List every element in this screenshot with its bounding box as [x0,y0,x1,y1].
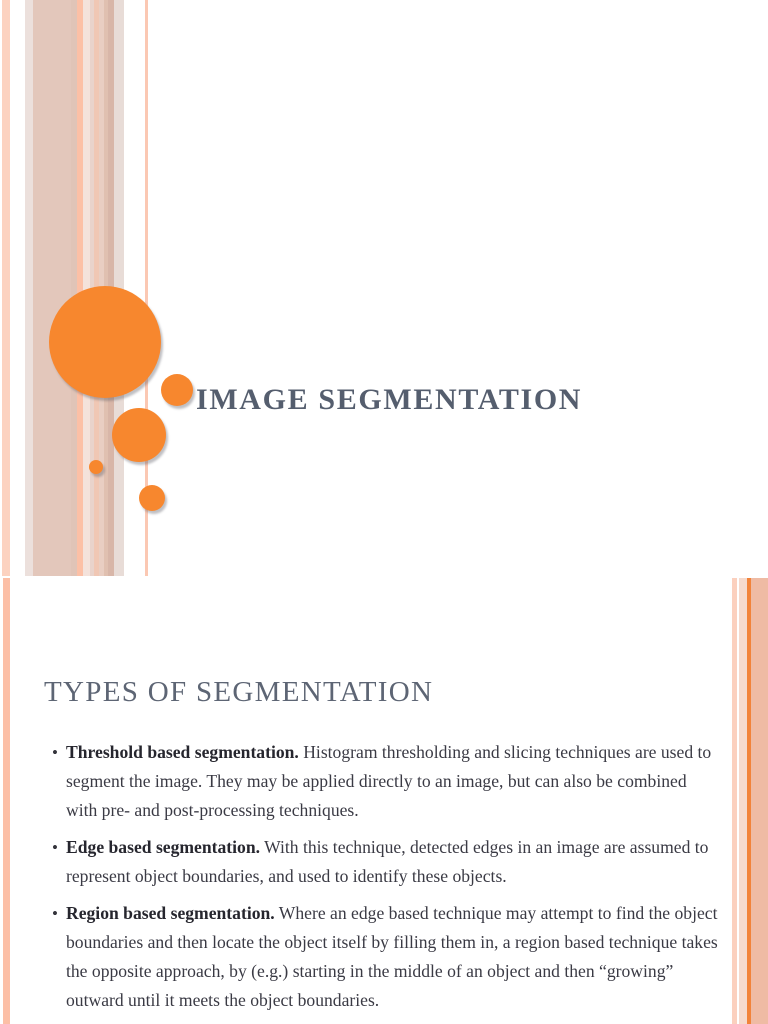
section-heading: Types of Segmentation [44,678,433,707]
bubble-medium-icon [112,408,166,462]
page-title: Image Segmentation [196,385,582,415]
slide-title-slide: Image Segmentation [0,0,768,576]
list-item: •Region based segmentation. Where an edg… [48,899,720,1015]
list-item-term: Edge based segmentation. [66,837,260,857]
list-item-term: Threshold based segmentation. [66,742,299,762]
list-item-text: Threshold based segmentation. Histogram … [66,738,720,825]
list-item-text: Region based segmentation. Where an edge… [66,899,720,1015]
bullet-list: •Threshold based segmentation. Histogram… [48,738,720,1023]
bubble-tiny-icon [89,460,103,474]
stripe-left-0 [2,0,10,576]
list-item-term: Region based segmentation. [66,903,275,923]
bubble-large-icon [49,286,161,398]
stripe-right-3 [751,578,768,1024]
bubble-small-right-icon [161,374,193,406]
slide-deck: Image Segmentation Types of Segmentation… [0,0,768,1024]
slide-types-of-segmentation: Types of Segmentation •Threshold based s… [0,578,768,1024]
stripe-right-1 [739,578,747,1024]
title-block: Image Segmentation [196,375,756,425]
bullet-marker-icon: • [48,899,66,928]
stripe-left-1 [25,0,33,576]
list-item: •Edge based segmentation. With this tech… [48,833,720,891]
stripe-left-0 [3,578,10,1024]
stripe-left-2 [33,0,71,576]
bullet-marker-icon: • [48,738,66,767]
stripe-right-0 [732,578,737,1024]
bullet-marker-icon: • [48,833,66,862]
list-item: •Threshold based segmentation. Histogram… [48,738,720,825]
list-item-text: Edge based segmentation. With this techn… [66,833,720,891]
bubble-small-low-icon [139,485,165,511]
